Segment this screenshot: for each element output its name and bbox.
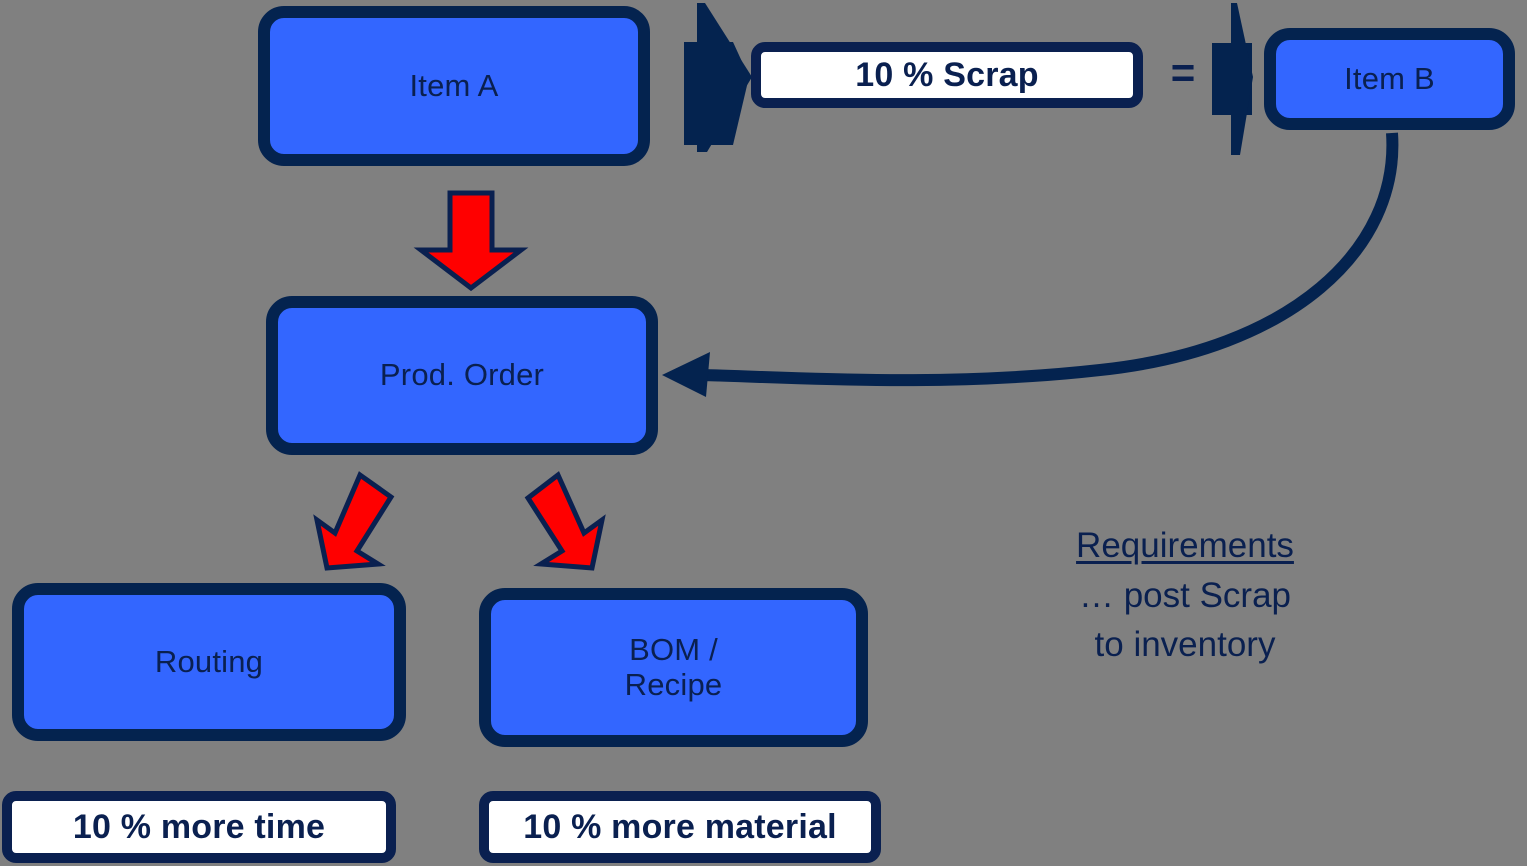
curved-arrow-left-icon: [700, 133, 1392, 380]
node-item-b[interactable]: Item B: [1264, 28, 1515, 130]
node-prod-order[interactable]: Prod. Order: [266, 296, 658, 455]
red-arrow-down-icon: [421, 193, 521, 288]
node-prod-order-label: Prod. Order: [380, 358, 544, 393]
chip-more-material[interactable]: 10 % more material: [479, 791, 881, 863]
node-item-a-label: Item A: [409, 69, 498, 104]
requirements-note: Requirements … post Scrap to inventory: [1010, 521, 1360, 670]
node-bom-recipe-label: BOM / Recipe: [625, 633, 723, 702]
block-arrow-right-icon-2-head: [1231, 3, 1253, 155]
red-arrow-down-right-icon: [528, 475, 602, 568]
node-routing-label: Routing: [155, 645, 263, 680]
chip-more-material-label: 10 % more material: [523, 808, 837, 847]
node-item-a[interactable]: Item A: [258, 6, 650, 166]
chip-more-time[interactable]: 10 % more time: [2, 791, 396, 863]
diagram-canvas: Item A Item B Prod. Order Routing BOM / …: [0, 0, 1527, 866]
block-arrow-right-icon-2-body: [1212, 43, 1252, 115]
requirements-title: Requirements: [1010, 521, 1360, 571]
requirements-line-1: … post Scrap: [1010, 571, 1360, 621]
requirements-line-2: to inventory: [1010, 620, 1360, 670]
node-routing[interactable]: Routing: [12, 583, 406, 741]
block-arrow-right-icon-1: [684, 42, 749, 145]
curved-arrow-left-head: [662, 352, 710, 397]
block-arrow-right-icon-1-head: [697, 3, 752, 152]
chip-scrap-label: 10 % Scrap: [855, 56, 1038, 95]
chip-scrap[interactable]: 10 % Scrap: [751, 42, 1143, 108]
red-arrow-down-left-icon: [317, 475, 391, 568]
equals-operator: =: [1163, 48, 1203, 98]
node-bom-recipe[interactable]: BOM / Recipe: [479, 588, 868, 747]
chip-more-time-label: 10 % more time: [73, 808, 325, 847]
equals-operator-label: =: [1171, 49, 1196, 97]
node-item-b-label: Item B: [1344, 62, 1435, 97]
